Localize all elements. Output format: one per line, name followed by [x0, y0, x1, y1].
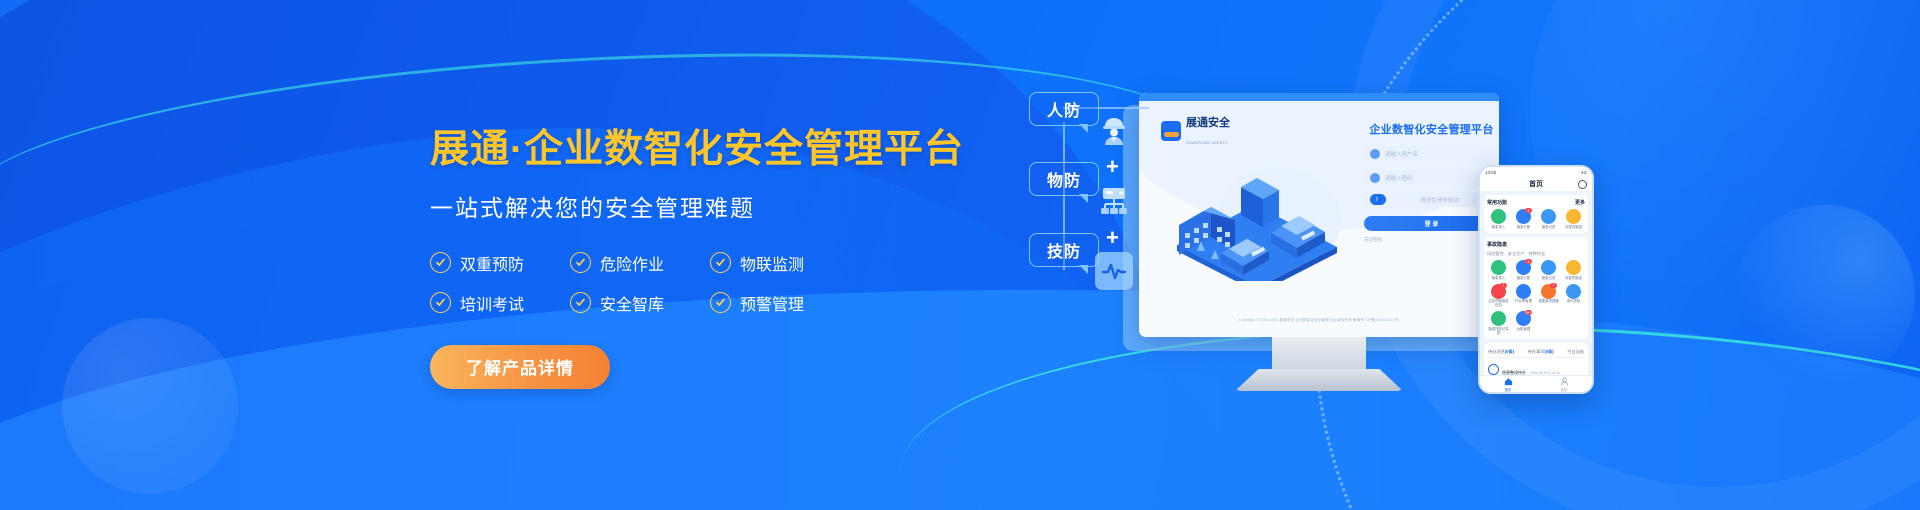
- badge-count: 99+: [1525, 310, 1532, 315]
- grid-item-label: 隐患分配: [1517, 226, 1531, 230]
- section-label: 常用功能: [1487, 199, 1507, 206]
- grid-item[interactable]: 隐患记录: [1537, 209, 1560, 229]
- grid-item-label: 隐患记录: [1542, 277, 1556, 281]
- grid-item-label: 台账管理: [1517, 328, 1531, 332]
- copyright-text: Copyright © 2019-2024 展通安全 企业数智化安全管理平台 版…: [1139, 318, 1499, 323]
- feature-row: 培训考试 安全智库 预警管理: [430, 291, 990, 315]
- username-field[interactable]: 请输入用户名: [1364, 146, 1499, 161]
- grid-item-label: 隐患录入: [1492, 277, 1506, 281]
- user-icon: [1560, 377, 1569, 387]
- feature-item: 预警管理: [710, 291, 850, 315]
- feature-item: 培训考试: [430, 291, 570, 315]
- feature-row: 双重预防 危险作业 物联监测: [430, 251, 990, 275]
- todo-tabs: 待办消息(0条) 待办事项(0条) 今日动态: [1487, 347, 1585, 357]
- feature-item: 双重预防: [430, 251, 570, 275]
- lock-icon: [1370, 173, 1380, 183]
- work-permit-icon: [1516, 284, 1531, 299]
- section-label: 事故隐患: [1487, 241, 1507, 248]
- forgot-password-link[interactable]: 忘记密码: [1364, 237, 1382, 243]
- tag-people-defense[interactable]: 人防: [1029, 92, 1099, 126]
- phone-bottom-nav: 首页 我的: [1480, 375, 1592, 392]
- badge-count: 3: [1550, 283, 1557, 288]
- grid-item-label: 操作规程: [1567, 300, 1581, 304]
- tag-tech-defense[interactable]: 技防: [1029, 233, 1099, 267]
- grid-item-label: 重要事项提醒: [1538, 300, 1558, 304]
- grid-item-label: 待整改隐患: [1565, 277, 1582, 281]
- grid-item[interactable]: 操作规程: [1562, 284, 1585, 308]
- todo-tab-today[interactable]: 今日动态: [1567, 349, 1584, 355]
- nav-item-profile[interactable]: 我的: [1560, 377, 1569, 392]
- assign-icon: 6: [1516, 260, 1531, 275]
- tag-label: 人防: [1047, 97, 1081, 121]
- user-icon: [1370, 149, 1380, 159]
- page-title: 展通·企业数智化安全管理平台: [430, 128, 990, 173]
- grid-item[interactable]: 2 应急预案隐患信息: [1487, 284, 1510, 308]
- section-more-link[interactable]: 更多: [1575, 199, 1585, 206]
- nav-label: 首页: [1505, 387, 1512, 392]
- section-tabs: 风险管控 安全生产 特种作业: [1487, 251, 1585, 257]
- section-title: 事故隐患: [1487, 241, 1585, 248]
- tab-item[interactable]: 风险管控: [1487, 251, 1504, 257]
- page-subtitle: 一站式解决您的安全管理难题: [430, 189, 990, 223]
- check-circle-icon: [570, 252, 591, 273]
- monitor-base: [1235, 369, 1403, 391]
- feature-label: 危险作业: [600, 251, 664, 275]
- grid-item[interactable]: 待整改隐患: [1562, 260, 1585, 280]
- tag-label: 物防: [1047, 167, 1081, 191]
- plus-sign-1: +: [1106, 154, 1119, 180]
- grid-item-label: 应急预案隐患信息: [1487, 300, 1510, 308]
- badge-count: 6: [1525, 208, 1532, 213]
- username-placeholder: 请输入用户名: [1385, 150, 1418, 158]
- badge-count: 2: [1500, 283, 1507, 288]
- hero-banner: 展通·企业数智化安全管理平台 一站式解决您的安全管理难题 双重预防 危险作业: [0, 0, 1920, 510]
- status-time: 13:50: [1485, 170, 1496, 175]
- phone-app-body: 常用功能 更多 隐患录入 6 隐患分配: [1480, 191, 1592, 384]
- record-icon: [1491, 209, 1506, 224]
- bg-circle-left: [62, 318, 238, 494]
- nav-label: 我的: [1561, 387, 1568, 392]
- status-signal: 4G: [1581, 170, 1587, 175]
- assign-icon: 6: [1516, 209, 1531, 224]
- tab-item[interactable]: 安全生产: [1508, 251, 1525, 257]
- monitor-frame: 展通安全 ZHANTONG SAFETY: [1139, 93, 1499, 337]
- hero-copy: 展通·企业数智化安全管理平台 一站式解决您的安全管理难题 双重预防 危险作业: [430, 128, 990, 389]
- feature-label: 预警管理: [740, 291, 804, 315]
- history-icon: [1541, 260, 1556, 275]
- monitor-screen: 展通安全 ZHANTONG SAFETY: [1139, 101, 1499, 337]
- phone-app-header: 首页: [1480, 177, 1592, 191]
- plus-sign-2: +: [1106, 225, 1119, 251]
- isometric-illustration: [1159, 153, 1354, 281]
- grid-item[interactable]: 隐患录入: [1487, 260, 1510, 280]
- badge-count: 6: [1525, 259, 1532, 264]
- phone-header-title: 首页: [1529, 179, 1543, 189]
- password-placeholder: 请输入密码: [1385, 174, 1413, 182]
- grid-item-label: 作业票管理: [1515, 300, 1532, 304]
- check-circle-icon: [710, 292, 731, 313]
- feature-label: 安全智库: [600, 291, 664, 315]
- icon-grid: 隐患录入 6 隐患分配 隐患记录 待整改隐患: [1487, 209, 1585, 229]
- grid-item[interactable]: 作业票管理: [1512, 284, 1535, 308]
- feature-item: 危险作业: [570, 251, 710, 275]
- reminder-icon: 3: [1541, 284, 1556, 299]
- phone-status-bar: 13:50 4G: [1480, 167, 1592, 177]
- feature-item: 安全智库: [570, 291, 710, 315]
- grid-item[interactable]: 3 重要事项提醒: [1537, 284, 1560, 308]
- worker-helmet-icon: [1095, 112, 1133, 150]
- emergency-plan-icon: 2: [1491, 284, 1506, 299]
- grid-item[interactable]: 6 隐患分配: [1512, 260, 1535, 280]
- bg-sphere-right: [1735, 205, 1915, 385]
- feature-label: 双重预防: [460, 251, 524, 275]
- ledger-icon: 99+: [1516, 311, 1531, 326]
- checklist-icon: [1491, 311, 1506, 326]
- grid-item[interactable]: 隐患录入: [1487, 209, 1510, 229]
- slider-handle-icon[interactable]: 》: [1370, 194, 1386, 205]
- grid-item-label: 隐患分配: [1517, 277, 1531, 281]
- phone-section-hazards: 事故隐患 风险管控 安全生产 特种作业 隐患录入 6: [1484, 237, 1588, 339]
- desktop-monitor-mockup: 展通安全 ZHANTONG SAFETY: [1139, 93, 1499, 353]
- protection-tags: 人防 物防 技防 + +: [1029, 92, 1179, 352]
- tag-label: 技防: [1047, 238, 1081, 262]
- learn-more-button[interactable]: 了解产品详情: [430, 345, 610, 389]
- record-icon: [1491, 260, 1506, 275]
- history-icon: [1541, 209, 1556, 224]
- device-network-icon: [1095, 182, 1133, 220]
- todo-tab-messages[interactable]: 待办消息(0条): [1488, 349, 1514, 355]
- logo-text: 展通安全: [1186, 117, 1230, 129]
- grid-item-label: 隐患录入: [1492, 226, 1506, 230]
- grid-item[interactable]: 99+ 台账管理: [1512, 311, 1535, 335]
- gear-icon[interactable]: [1578, 180, 1587, 189]
- tag-physical-defense[interactable]: 物防: [1029, 162, 1099, 196]
- grid-item[interactable]: 隐患记录: [1537, 260, 1560, 280]
- check-circle-icon: [570, 292, 591, 313]
- check-circle-icon: [430, 292, 451, 313]
- check-circle-icon: [430, 252, 451, 273]
- tab-item[interactable]: 特种作业: [1529, 251, 1546, 257]
- check-circle-icon: [710, 252, 731, 273]
- feature-item: 物联监测: [710, 251, 850, 275]
- section-title: 常用功能 更多: [1487, 199, 1585, 206]
- warning-icon: [1566, 209, 1581, 224]
- feature-list: 双重预防 危险作业 物联监测: [430, 251, 990, 315]
- icon-grid: 隐患录入 6 隐患分配 隐患记录 待整改隐患: [1487, 260, 1585, 335]
- grid-item-label: 隐患排查记录表: [1487, 328, 1510, 336]
- grid-item-label: 待整改隐患: [1565, 226, 1582, 230]
- grid-item[interactable]: 待整改隐患: [1562, 209, 1585, 229]
- warning-icon: [1566, 260, 1581, 275]
- mobile-phone-mockup: 13:50 4G 首页 常用功能 更多 隐患录入: [1478, 165, 1594, 394]
- login-title: 企业数智化安全管理平台: [1364, 121, 1499, 137]
- todo-tab-tasks[interactable]: 待办事项(0条): [1528, 349, 1554, 355]
- grid-item[interactable]: 6 隐患分配: [1512, 209, 1535, 229]
- captcha-placeholder: 请按住滑块拖动: [1420, 196, 1459, 204]
- grid-item[interactable]: 隐患排查记录表: [1487, 311, 1510, 335]
- monitor-topbar: [1139, 93, 1499, 101]
- feature-label: 物联监测: [740, 251, 804, 275]
- home-icon: [1504, 377, 1513, 387]
- nav-item-home[interactable]: 首页: [1504, 377, 1513, 392]
- procedure-icon: [1566, 284, 1581, 299]
- logo-subtext: ZHANTONG SAFETY: [1186, 140, 1228, 145]
- phone-section-common: 常用功能 更多 隐患录入 6 隐患分配: [1484, 195, 1588, 233]
- task-circle-icon: [1488, 364, 1499, 375]
- grid-item-label: 隐患记录: [1542, 226, 1556, 230]
- monitor-pulse-icon: [1095, 252, 1133, 290]
- feature-label: 培训考试: [460, 291, 524, 315]
